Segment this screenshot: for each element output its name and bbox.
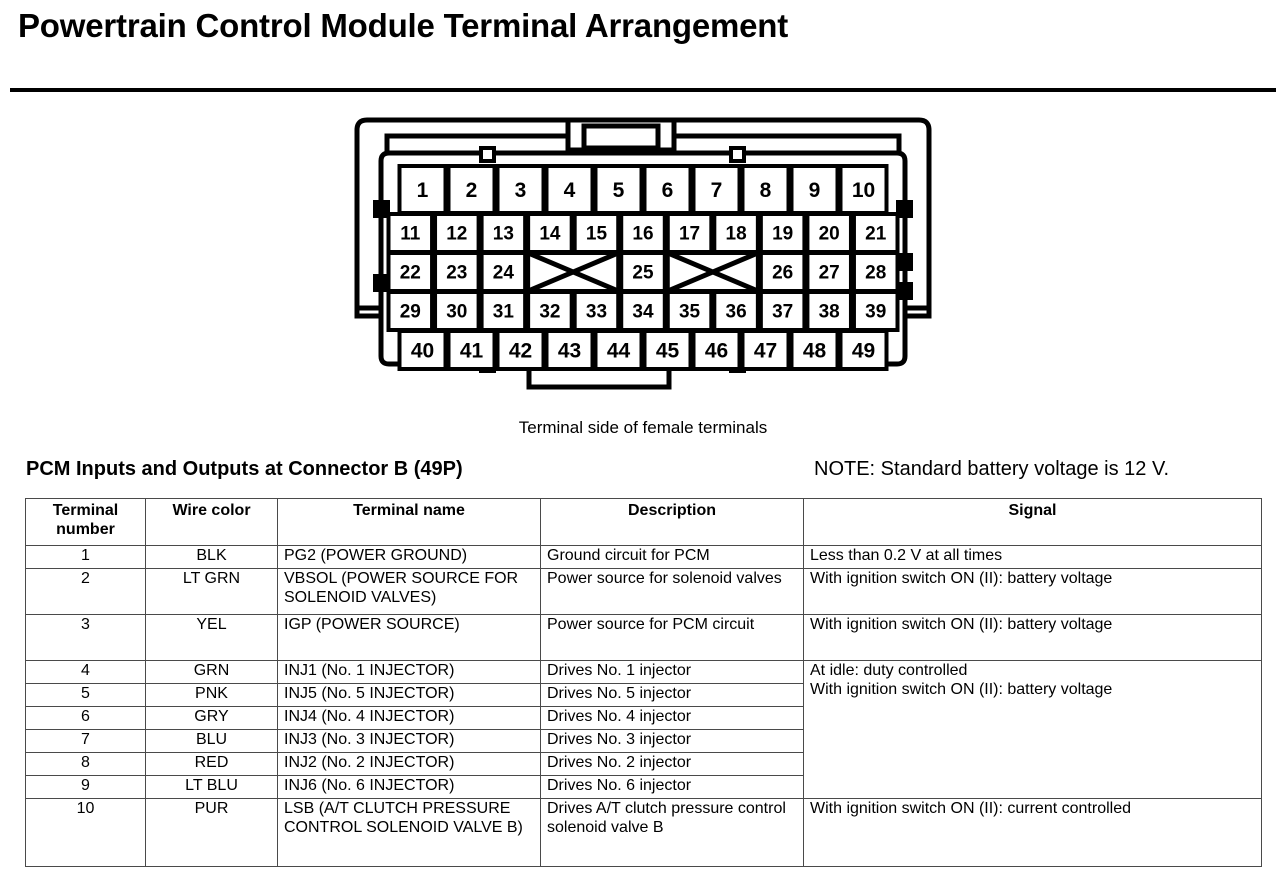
pin-number-40: 40	[411, 340, 434, 363]
cell-wire-color: GRY	[146, 707, 278, 730]
cell-description: Drives No. 4 injector	[541, 707, 804, 730]
title-divider	[10, 88, 1276, 92]
pin-number-14: 14	[539, 224, 561, 245]
cell-wire-color: RED	[146, 753, 278, 776]
cell-wire-color: PNK	[146, 684, 278, 707]
pin-number-32: 32	[539, 302, 560, 323]
pin-number-8: 8	[760, 179, 772, 202]
pin-number-49: 49	[852, 340, 875, 363]
section-note: NOTE: Standard battery voltage is 12 V.	[814, 458, 1169, 481]
pin-number-7: 7	[711, 179, 723, 202]
column-header-signal: Signal	[804, 499, 1262, 546]
table-row: 3YELIGP (POWER SOURCE)Power source for P…	[26, 615, 1262, 661]
pin-number-37: 37	[772, 302, 793, 323]
cell-description: Ground circuit for PCM	[541, 546, 804, 569]
pcm-io-table: Terminal number Wire color Terminal name…	[25, 498, 1262, 867]
column-header-terminal-number: Terminal number	[26, 499, 146, 546]
table-body: 1BLKPG2 (POWER GROUND)Ground circuit for…	[26, 546, 1262, 867]
pin-number-47: 47	[754, 340, 777, 363]
cell-wire-color: BLU	[146, 730, 278, 753]
cell-terminal-name: INJ3 (No. 3 INJECTOR)	[278, 730, 541, 753]
pin-number-12: 12	[446, 224, 467, 245]
pin-number-18: 18	[726, 224, 747, 245]
cell-terminal-number: 7	[26, 730, 146, 753]
cell-wire-color: LT GRN	[146, 569, 278, 615]
connector-notch-top-left	[481, 148, 494, 161]
cell-terminal-number: 8	[26, 753, 146, 776]
pin-number-35: 35	[679, 302, 701, 323]
table-row: 4GRNINJ1 (No. 1 INJECTOR)Drives No. 1 in…	[26, 661, 1262, 684]
pin-number-15: 15	[586, 224, 608, 245]
cell-signal-merged: At idle: duty controlledWith ignition sw…	[804, 661, 1262, 799]
cell-description: Drives No. 3 injector	[541, 730, 804, 753]
pin-number-21: 21	[865, 224, 887, 245]
cell-terminal-number: 10	[26, 799, 146, 867]
pin-number-22: 22	[400, 263, 421, 284]
cell-signal: With ignition switch ON (II): current co…	[804, 799, 1262, 867]
cell-terminal-number: 4	[26, 661, 146, 684]
pin-number-3: 3	[515, 179, 527, 202]
cell-terminal-number: 9	[26, 776, 146, 799]
cell-terminal-number: 3	[26, 615, 146, 661]
pcm-table-container: Terminal number Wire color Terminal name…	[25, 498, 1261, 867]
connector-svg: 1234567891011121314151617181920212223242…	[343, 108, 943, 398]
table-row: 1BLKPG2 (POWER GROUND)Ground circuit for…	[26, 546, 1262, 569]
pin-number-17: 17	[679, 224, 700, 245]
cell-signal: With ignition switch ON (II): battery vo…	[804, 569, 1262, 615]
pin-number-42: 42	[509, 340, 532, 363]
signal-line-2: With ignition switch ON (II): battery vo…	[810, 681, 1255, 700]
pin-number-26: 26	[772, 263, 793, 284]
section-title: PCM Inputs and Outputs at Connector B (4…	[26, 458, 463, 481]
cell-terminal-name: INJ2 (No. 2 INJECTOR)	[278, 753, 541, 776]
pin-number-29: 29	[400, 302, 421, 323]
cell-description: Drives No. 5 injector	[541, 684, 804, 707]
cell-terminal-number: 5	[26, 684, 146, 707]
pin-number-9: 9	[809, 179, 821, 202]
pin-number-1: 1	[417, 179, 429, 202]
pin-number-28: 28	[865, 263, 886, 284]
pin-number-25: 25	[632, 263, 654, 284]
pin-number-20: 20	[819, 224, 840, 245]
pin-number-16: 16	[632, 224, 653, 245]
table-row: 2LT GRNVBSOL (POWER SOURCE FOR SOLENOID …	[26, 569, 1262, 615]
cell-wire-color: GRN	[146, 661, 278, 684]
cell-description: Drives No. 1 injector	[541, 661, 804, 684]
pin-number-11: 11	[400, 224, 421, 245]
cell-terminal-name: IGP (POWER SOURCE)	[278, 615, 541, 661]
pin-number-10: 10	[852, 179, 875, 202]
cell-signal: Less than 0.2 V at all times	[804, 546, 1262, 569]
cell-terminal-number: 6	[26, 707, 146, 730]
connector-notch-top-right	[731, 148, 744, 161]
pin-number-2: 2	[466, 179, 478, 202]
pin-number-48: 48	[803, 340, 827, 363]
header-terminal-line2: number	[32, 521, 139, 540]
cell-terminal-name: INJ1 (No. 1 INJECTOR)	[278, 661, 541, 684]
pin-number-41: 41	[460, 340, 484, 363]
pin-number-36: 36	[726, 302, 747, 323]
cell-description: Power source for solenoid valves	[541, 569, 804, 615]
pin-number-34: 34	[632, 302, 654, 323]
cell-wire-color: LT BLU	[146, 776, 278, 799]
cell-signal: With ignition switch ON (II): battery vo…	[804, 615, 1262, 661]
diagram-caption: Terminal side of female terminals	[0, 418, 1286, 438]
cell-terminal-number: 1	[26, 546, 146, 569]
pin-number-6: 6	[662, 179, 674, 202]
connector-diagram: 1234567891011121314151617181920212223242…	[0, 108, 1286, 408]
column-header-description: Description	[541, 499, 804, 546]
cell-terminal-name: INJ5 (No. 5 INJECTOR)	[278, 684, 541, 707]
cell-terminal-name: LSB (A/T CLUTCH PRESSURE CONTROL SOLENOI…	[278, 799, 541, 867]
pin-number-43: 43	[558, 340, 581, 363]
pin-number-31: 31	[493, 302, 515, 323]
table-header: Terminal number Wire color Terminal name…	[26, 499, 1262, 546]
pin-grid: 1234567891011121314151617181920212223242…	[389, 166, 898, 369]
header-terminal-line1: Terminal	[32, 502, 139, 521]
page-title: Powertrain Control Module Terminal Arran…	[0, 0, 1286, 45]
section-heading-row: PCM Inputs and Outputs at Connector B (4…	[0, 458, 1286, 490]
pin-number-44: 44	[607, 340, 631, 363]
connector-top-latch-inner	[584, 126, 658, 148]
column-header-wire-color: Wire color	[146, 499, 278, 546]
pin-number-30: 30	[446, 302, 467, 323]
column-header-terminal-name: Terminal name	[278, 499, 541, 546]
cell-terminal-number: 2	[26, 569, 146, 615]
cell-terminal-name: INJ4 (No. 4 INJECTOR)	[278, 707, 541, 730]
pin-number-19: 19	[772, 224, 793, 245]
cell-description: Drives No. 2 injector	[541, 753, 804, 776]
pin-number-27: 27	[819, 263, 840, 284]
pin-number-4: 4	[564, 179, 576, 202]
signal-line-1: At idle: duty controlled	[810, 662, 1255, 681]
pin-number-38: 38	[819, 302, 840, 323]
cell-wire-color: PUR	[146, 799, 278, 867]
cell-terminal-name: VBSOL (POWER SOURCE FOR SOLENOID VALVES)	[278, 569, 541, 615]
cell-terminal-name: INJ6 (No. 6 INJECTOR)	[278, 776, 541, 799]
pin-number-23: 23	[446, 263, 467, 284]
pin-number-13: 13	[493, 224, 514, 245]
table-row: 10PURLSB (A/T CLUTCH PRESSURE CONTROL SO…	[26, 799, 1262, 867]
cell-wire-color: YEL	[146, 615, 278, 661]
pin-number-39: 39	[865, 302, 886, 323]
pin-number-45: 45	[656, 340, 680, 363]
pin-number-24: 24	[493, 263, 515, 284]
pin-number-5: 5	[613, 179, 625, 202]
cell-terminal-name: PG2 (POWER GROUND)	[278, 546, 541, 569]
cell-description: Drives A/T clutch pressure control solen…	[541, 799, 804, 867]
cell-wire-color: BLK	[146, 546, 278, 569]
pin-number-33: 33	[586, 302, 607, 323]
cell-description: Drives No. 6 injector	[541, 776, 804, 799]
cell-description: Power source for PCM circuit	[541, 615, 804, 661]
pin-number-46: 46	[705, 340, 728, 363]
table-header-row: Terminal number Wire color Terminal name…	[26, 499, 1262, 546]
